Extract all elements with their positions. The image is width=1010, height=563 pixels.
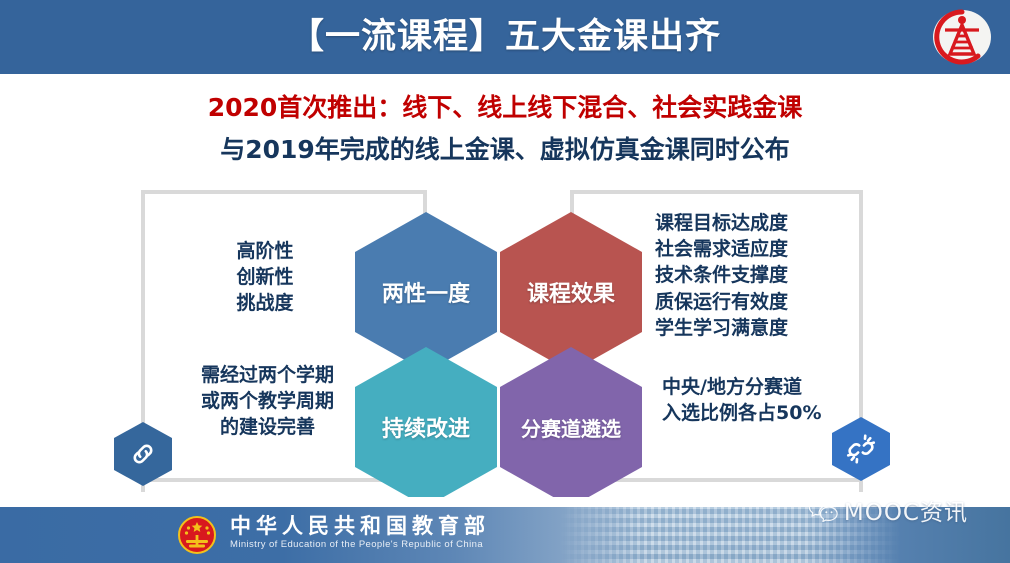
text-line: 创新性: [185, 264, 345, 290]
header-bar: 【一流课程】五大金课出齐: [0, 0, 1010, 74]
text-line: 需经过两个学期: [175, 362, 360, 388]
hexagon-diagram: 两性一度 课程效果 持续改进 分赛道遴选: [0, 182, 1010, 492]
footer-name-cn: 中华人民共和国教育部: [230, 514, 490, 537]
text-line: 学生学习满意度: [655, 315, 835, 341]
text-line: 的建设完善: [175, 414, 360, 440]
text-line: 入选比例各占50%: [662, 400, 837, 426]
text-line: 质保运行有效度: [655, 289, 835, 315]
footer-bar: 中华人民共和国教育部 Ministry of Education of the …: [0, 507, 1010, 563]
text-line: 高阶性: [185, 238, 345, 264]
footer-spacer: [0, 497, 1010, 507]
text-line: 技术条件支撑度: [655, 262, 835, 288]
subtitle-line-1: 2020首次推出：线下、线上线下混合、社会实践金课: [0, 92, 1010, 123]
text-block-left-bottom: 需经过两个学期或两个教学周期的建设完善: [175, 362, 360, 441]
text-block-left-top: 高阶性创新性挑战度: [185, 238, 345, 317]
subtitle-line-2: 与2019年完成的线上金课、虚拟仿真金课同时公布: [0, 134, 1010, 165]
national-emblem-icon: [175, 513, 219, 557]
text-line: 或两个教学周期: [175, 388, 360, 414]
text-line: 挑战度: [185, 290, 345, 316]
hexagon-label: 持续改进: [382, 411, 470, 443]
text-line: 中央/地方分赛道: [662, 374, 837, 400]
hexagon-label: 两性一度: [382, 276, 470, 308]
footer-name-en: Ministry of Education of the People's Re…: [230, 539, 490, 550]
subtitle-block: 2020首次推出：线下、线上线下混合、社会实践金课 与2019年完成的线上金课、…: [0, 92, 1010, 166]
footer-ministry-name: 中华人民共和国教育部 Ministry of Education of the …: [230, 514, 490, 550]
link-icon: [128, 439, 158, 469]
hexagon-label: 课程效果: [527, 276, 615, 308]
broken-link-icon: [846, 434, 876, 464]
text-block-right-top: 课程目标达成度社会需求适应度技术条件支撑度质保运行有效度学生学习满意度: [655, 210, 835, 341]
text-line: 课程目标达成度: [655, 210, 835, 236]
text-line: 社会需求适应度: [655, 236, 835, 262]
slide-canvas: 【一流课程】五大金课出齐 2020首次推出：线下、线上线下混合、社会实践金课 与…: [0, 0, 1010, 563]
page-title: 【一流课程】五大金课出齐: [289, 20, 721, 55]
tower-emblem-icon: [932, 7, 992, 67]
text-block-right-bottom: 中央/地方分赛道入选比例各占50%: [662, 374, 837, 426]
hexagon-label: 分赛道遴选: [521, 413, 621, 442]
footer-building-photo: [560, 507, 900, 563]
